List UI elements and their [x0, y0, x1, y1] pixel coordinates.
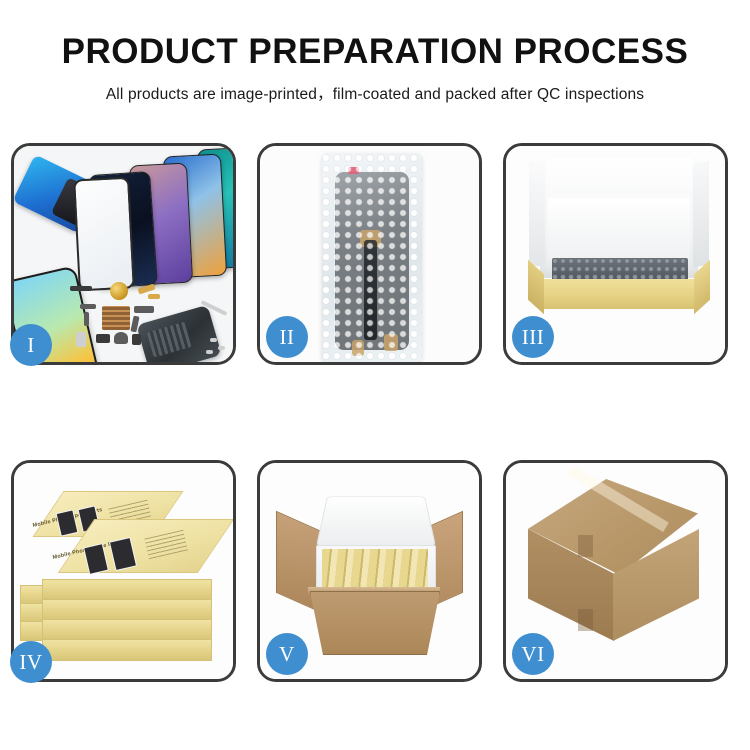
step-numeral: V	[279, 642, 295, 667]
carton-seam-icon	[578, 609, 593, 631]
step-badge-6: VI	[512, 633, 554, 675]
step-badge-2: II	[266, 316, 308, 358]
qc-sticker-icon	[348, 167, 359, 174]
screw-icon	[210, 338, 217, 342]
step-numeral: VI	[521, 642, 544, 667]
glass-panel-icon	[73, 177, 135, 292]
small-part-icon	[80, 304, 96, 309]
photo-stacked-boxes: Mobile Phone Spare Parts Mobile Phone Sp…	[14, 463, 233, 679]
small-part-icon	[134, 306, 154, 313]
step-panel-6[interactable]: VI	[503, 460, 728, 682]
stacked-box-icon	[42, 639, 212, 661]
photo-products	[14, 146, 233, 362]
small-part-icon	[96, 334, 110, 343]
foam-pad-icon	[548, 198, 690, 260]
flex-cable-icon	[364, 240, 377, 340]
step-badge-3: III	[512, 316, 554, 358]
stacked-box-icon	[42, 579, 212, 601]
small-part-icon	[114, 332, 128, 344]
small-part-icon	[84, 312, 89, 326]
chip-board-icon	[102, 306, 130, 330]
small-part-icon	[70, 286, 92, 291]
process-steps-grid: I II	[11, 143, 739, 682]
gold-coil-part-icon	[110, 282, 128, 300]
small-part-icon	[132, 334, 141, 345]
yellow-box-base-icon	[540, 279, 698, 309]
carton-seam-icon	[578, 535, 593, 557]
step-badge-1: I	[10, 324, 52, 366]
bubble-wrap-bag-icon	[322, 154, 422, 362]
screw-icon	[218, 346, 225, 350]
step-numeral: I	[27, 333, 35, 358]
connector-icon	[384, 334, 398, 351]
step-numeral: II	[280, 325, 295, 350]
step-numeral: III	[522, 325, 544, 350]
step-panel-5[interactable]: V	[257, 460, 482, 682]
stacked-box-icon	[42, 599, 212, 621]
page-title: PRODUCT PREPARATION PROCESS	[0, 34, 750, 69]
step-4-image: Mobile Phone Spare Parts Mobile Phone Sp…	[14, 463, 233, 679]
step-panel-4[interactable]: Mobile Phone Spare Parts Mobile Phone Sp…	[11, 460, 236, 682]
step-panel-1[interactable]: I	[11, 143, 236, 365]
stacked-box-icon	[42, 619, 212, 641]
step-panel-2[interactable]: II	[257, 143, 482, 365]
page-header: PRODUCT PREPARATION PROCESS All products…	[0, 0, 750, 104]
small-part-icon	[76, 332, 86, 347]
foam-lid-icon	[316, 496, 436, 547]
box-stack-icon: Mobile Phone Spare Parts Mobile Phone Sp…	[14, 463, 233, 679]
connector-icon	[352, 340, 364, 356]
step-numeral: IV	[19, 650, 42, 675]
page-subtitle: All products are image-printed，film-coat…	[0, 82, 750, 104]
flex-cable-icon	[148, 294, 160, 299]
step-badge-5: V	[266, 633, 308, 675]
step-panel-3[interactable]: III	[503, 143, 728, 365]
screw-icon	[206, 350, 213, 354]
step-badge-4: IV	[10, 641, 52, 683]
carton-body-icon	[310, 591, 440, 655]
step-1-image	[14, 146, 233, 362]
inner-boxes-icon	[322, 549, 428, 589]
